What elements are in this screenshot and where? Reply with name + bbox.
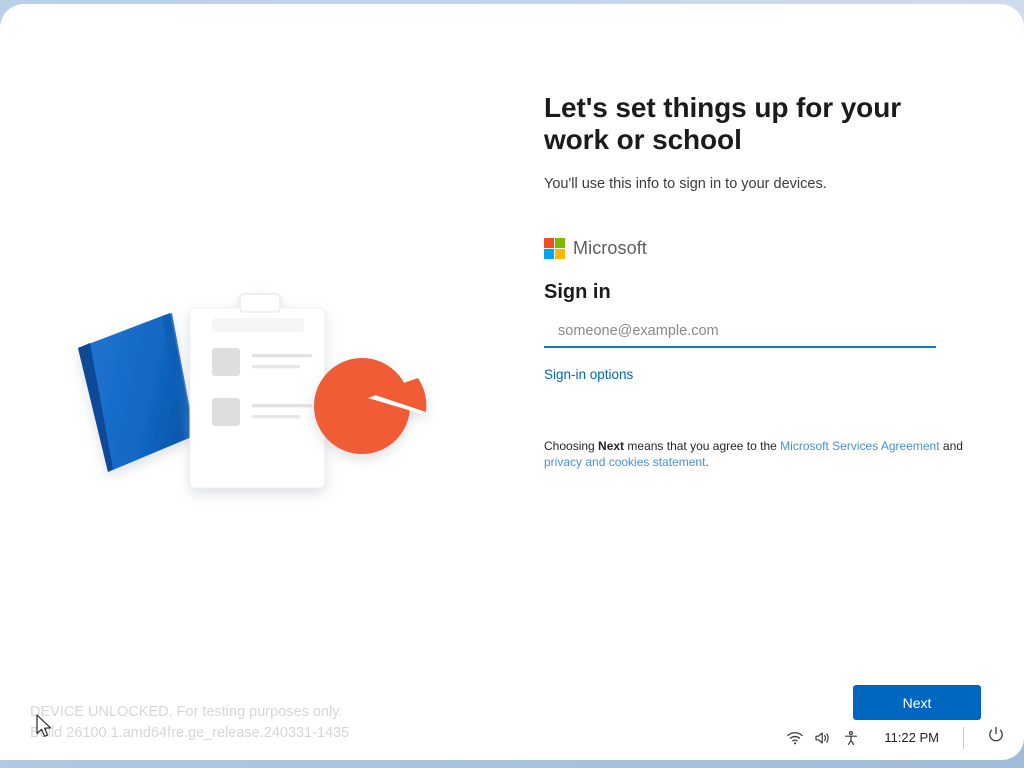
- microsoft-logo-icon: [544, 238, 565, 259]
- watermark-line-2: Build 26100.1.amd64fre.ge_release.240331…: [30, 725, 349, 741]
- accessibility-icon[interactable]: [842, 730, 860, 746]
- microsoft-wordmark: Microsoft: [573, 238, 647, 259]
- legal-emphasis-next: Next: [598, 439, 624, 453]
- legal-agreement-text: Choosing Next means that you agree to th…: [544, 438, 968, 470]
- next-button[interactable]: Next: [853, 685, 981, 720]
- wifi-icon[interactable]: [786, 730, 804, 746]
- illustration-book: [78, 313, 195, 472]
- power-icon[interactable]: [986, 725, 1006, 750]
- privacy-cookies-statement-link[interactable]: privacy and cookies statement: [544, 455, 705, 469]
- setup-content-column: Let's set things up for your work or sch…: [544, 92, 974, 470]
- system-tray: 11:22 PM: [786, 725, 1006, 750]
- tray-divider: [963, 727, 964, 749]
- legal-conjunction: and: [940, 439, 963, 453]
- watermark-line-1: DEVICE UNLOCKED. For testing purposes on…: [30, 704, 342, 720]
- legal-middle: means that you agree to the: [624, 439, 780, 453]
- page-title: Let's set things up for your work or sch…: [544, 92, 964, 156]
- microsoft-brand-lockup: Microsoft: [544, 238, 974, 259]
- legal-prefix: Choosing: [544, 439, 598, 453]
- clock[interactable]: 11:22 PM: [884, 730, 939, 745]
- legal-suffix: .: [705, 455, 708, 469]
- page-subtitle: You'll use this info to sign in to your …: [544, 174, 974, 194]
- work-school-illustration: [62, 286, 442, 511]
- signin-options-link[interactable]: Sign-in options: [544, 367, 633, 382]
- oobe-panel: Let's set things up for your work or sch…: [0, 4, 1024, 760]
- volume-icon[interactable]: [814, 730, 832, 746]
- desktop-backdrop: Let's set things up for your work or sch…: [0, 0, 1024, 768]
- signin-heading: Sign in: [544, 281, 974, 304]
- microsoft-services-agreement-link[interactable]: Microsoft Services Agreement: [780, 439, 939, 453]
- account-field-wrapper: [544, 318, 936, 352]
- account-input[interactable]: [544, 318, 936, 348]
- test-mode-watermark: DEVICE UNLOCKED. For testing purposes on…: [30, 702, 349, 744]
- illustration-clipboard: [190, 294, 325, 488]
- illustration-pie-chart: [314, 358, 426, 454]
